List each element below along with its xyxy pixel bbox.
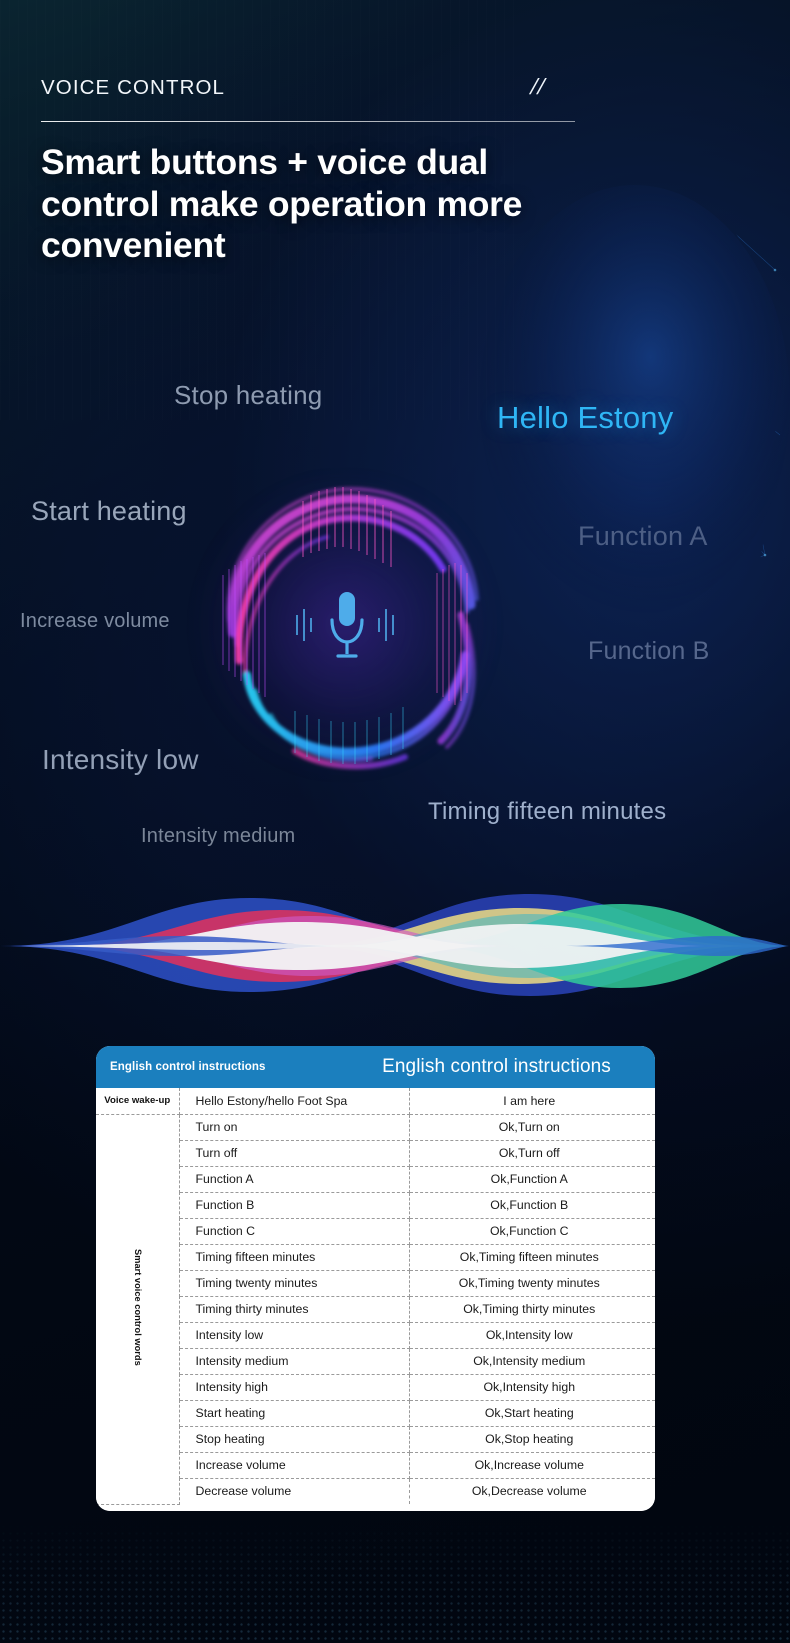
voice-orb: [175, 465, 515, 785]
mic-wave-right-icon: [371, 605, 397, 645]
response-cell: Ok,Start heating: [409, 1400, 655, 1426]
command-cell: Function A: [179, 1166, 409, 1192]
response-cell: Ok,Turn on: [409, 1114, 655, 1140]
promo-page: VOICE CONTROL // Smart buttons + voice d…: [0, 0, 790, 1643]
response-cell: Ok,Turn off: [409, 1140, 655, 1166]
voice-label-function-a: Function A: [578, 521, 708, 552]
response-cell: I am here: [409, 1088, 655, 1114]
eyebrow-row: VOICE CONTROL //: [41, 74, 575, 100]
command-cell: Stop heating: [179, 1426, 409, 1452]
voice-label-timing-fifteen: Timing fifteen minutes: [428, 798, 666, 826]
voice-waveform: [0, 880, 790, 1010]
slash-decoration: //: [527, 74, 549, 100]
table-header-right: English control instructions: [346, 1056, 655, 1078]
header: VOICE CONTROL // Smart buttons + voice d…: [41, 74, 575, 267]
table-row: Increase volumeOk,Increase volume: [96, 1452, 655, 1478]
table-row: Function COk,Function C: [96, 1218, 655, 1244]
command-cell: Timing twenty minutes: [179, 1270, 409, 1296]
header-divider: [41, 121, 575, 122]
table-row: Intensity highOk,Intensity high: [96, 1374, 655, 1400]
table-row: Intensity lowOk,Intensity low: [96, 1322, 655, 1348]
microphone-icon: [327, 590, 367, 662]
command-cell: Hello Estony/hello Foot Spa: [179, 1088, 409, 1114]
row-group-voice-wake-up: Voice wake-up: [96, 1088, 179, 1114]
command-cell: Start heating: [179, 1400, 409, 1426]
row-group-label: Smart voice control words: [132, 1249, 143, 1366]
voice-label-stop-heating: Stop heating: [174, 380, 322, 411]
table-row: Decrease volumeOk,Decrease volume: [96, 1478, 655, 1504]
voice-label-intensity-medium: Intensity medium: [141, 825, 295, 848]
command-cell: Function B: [179, 1192, 409, 1218]
table-row: Timing twenty minutesOk,Timing twenty mi…: [96, 1270, 655, 1296]
command-cell: Turn off: [179, 1140, 409, 1166]
table-row: Intensity mediumOk,Intensity medium: [96, 1348, 655, 1374]
page-title: Smart buttons + voice dual control make …: [41, 142, 601, 267]
response-cell: Ok,Timing thirty minutes: [409, 1296, 655, 1322]
table-row: Smart voice control wordsTurn onOk,Turn …: [96, 1114, 655, 1140]
voice-label-function-b: Function B: [588, 637, 710, 666]
response-cell: Ok,Intensity low: [409, 1322, 655, 1348]
row-group-smart-voice-control-words: Smart voice control words: [96, 1114, 179, 1504]
instructions-card: English control instructions English con…: [96, 1046, 655, 1511]
command-cell: Intensity medium: [179, 1348, 409, 1374]
orb-glow: [185, 475, 505, 775]
response-cell: Ok,Timing twenty minutes: [409, 1270, 655, 1296]
command-cell: Function C: [179, 1218, 409, 1244]
response-cell: Ok,Increase volume: [409, 1452, 655, 1478]
command-cell: Timing fifteen minutes: [179, 1244, 409, 1270]
table-row: Voice wake-upHello Estony/hello Foot Spa…: [96, 1088, 655, 1114]
table-row: Stop heatingOk,Stop heating: [96, 1426, 655, 1452]
voice-label-intensity-low: Intensity low: [42, 744, 199, 776]
response-cell: Ok,Function C: [409, 1218, 655, 1244]
response-cell: Ok,Function B: [409, 1192, 655, 1218]
table-row: Function BOk,Function B: [96, 1192, 655, 1218]
command-cell: Timing thirty minutes: [179, 1296, 409, 1322]
command-cell: Increase volume: [179, 1452, 409, 1478]
table-row: Turn offOk,Turn off: [96, 1140, 655, 1166]
table-header-left: English control instructions: [96, 1061, 346, 1073]
instructions-table: Voice wake-upHello Estony/hello Foot Spa…: [96, 1088, 655, 1505]
command-cell: Turn on: [179, 1114, 409, 1140]
command-cell: Intensity high: [179, 1374, 409, 1400]
table-row: Timing thirty minutesOk,Timing thirty mi…: [96, 1296, 655, 1322]
mic-wave-left-icon: [293, 605, 319, 645]
command-cell: Decrease volume: [179, 1478, 409, 1504]
instructions-table-body: Voice wake-upHello Estony/hello Foot Spa…: [96, 1088, 655, 1511]
table-row: Function AOk,Function A: [96, 1166, 655, 1192]
response-cell: Ok,Timing fifteen minutes: [409, 1244, 655, 1270]
voice-label-start-heating: Start heating: [31, 496, 187, 527]
voice-label-increase-volume: Increase volume: [20, 610, 170, 633]
response-cell: Ok,Intensity medium: [409, 1348, 655, 1374]
command-cell: Intensity low: [179, 1322, 409, 1348]
table-header-bar: English control instructions English con…: [96, 1046, 655, 1088]
voice-label-hello-estony: Hello Estony: [497, 400, 673, 436]
response-cell: Ok,Decrease volume: [409, 1478, 655, 1504]
response-cell: Ok,Stop heating: [409, 1426, 655, 1452]
table-row: Timing fifteen minutesOk,Timing fifteen …: [96, 1244, 655, 1270]
section-eyebrow: VOICE CONTROL: [41, 76, 225, 100]
bottom-dot-texture: [0, 1523, 790, 1643]
response-cell: Ok,Intensity high: [409, 1374, 655, 1400]
response-cell: Ok,Function A: [409, 1166, 655, 1192]
table-row: Start heatingOk,Start heating: [96, 1400, 655, 1426]
